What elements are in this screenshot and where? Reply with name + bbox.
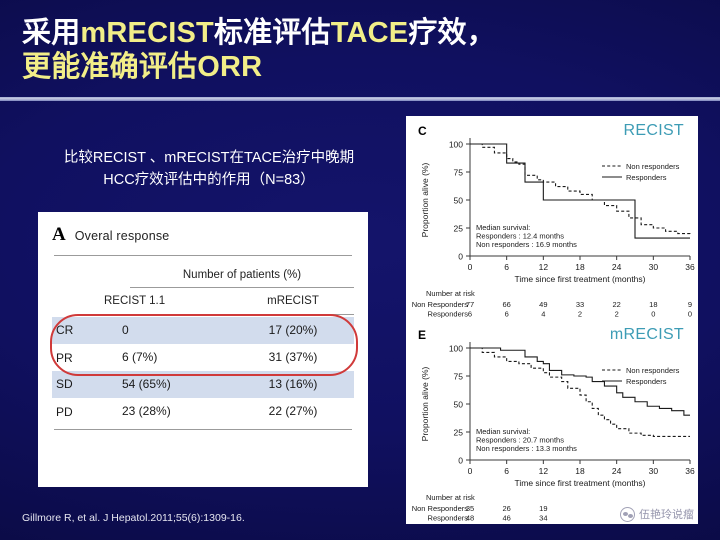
svg-text:18: 18 xyxy=(649,300,657,309)
row-value-recist: 54 (65%) xyxy=(104,371,232,398)
svg-text:75: 75 xyxy=(454,372,464,382)
title-segment-cn-b: 标准评估 xyxy=(214,17,331,49)
row-value-mrecist: 31 (37%) xyxy=(232,344,354,371)
table-rule-columns xyxy=(52,314,354,315)
svg-text:6: 6 xyxy=(468,310,472,319)
svg-text:24: 24 xyxy=(612,466,622,476)
svg-text:9: 9 xyxy=(688,300,692,309)
panel-e-title: mRECIST xyxy=(610,326,684,344)
citation-text: Gillmore R, et al. J Hepatol.2011;55(6):… xyxy=(22,512,245,524)
panel-a-letter: A xyxy=(52,224,66,246)
svg-text:0: 0 xyxy=(468,466,473,476)
column-header-blank xyxy=(52,295,104,307)
svg-text:Responders: Responders xyxy=(626,377,667,386)
svg-text:36: 36 xyxy=(685,262,695,272)
svg-text:24: 24 xyxy=(612,262,622,272)
row-label: SD xyxy=(52,371,104,398)
watermark-label: 伍艳玲说瘤 xyxy=(639,506,694,522)
svg-text:Non responders: Non responders xyxy=(626,366,680,375)
svg-text:49: 49 xyxy=(539,300,547,309)
row-label: PD xyxy=(52,405,104,419)
svg-text:Proportion alive (%): Proportion alive (%) xyxy=(420,367,430,442)
study-caption: 比较RECIST 、mRECIST在TACE治疗中晚期 HCC疗效评估中的作用（… xyxy=(18,147,400,191)
km-plot-mrecist-svg: 0255075100061218243036Time since first t… xyxy=(406,320,698,524)
table-row: PD 23 (28%) 22 (27%) xyxy=(52,398,354,425)
svg-text:2: 2 xyxy=(578,310,582,319)
svg-text:Number at risk: Number at risk xyxy=(426,493,475,502)
column-header-mrecist: mRECIST xyxy=(232,295,354,307)
panel-e-letter: E xyxy=(418,328,426,342)
row-value-recist: 6 (7%) xyxy=(104,344,232,371)
row-label: PR xyxy=(52,351,104,365)
svg-text:0: 0 xyxy=(458,456,463,466)
table-span-header: Number of patients (%) xyxy=(130,256,354,287)
title-segment-cn-c: 疗效， xyxy=(408,17,496,49)
slide-title: 采用mRECIST标准评估TACE疗效， 更能准确评估ORR xyxy=(22,16,682,84)
slide-canvas: 采用mRECIST标准评估TACE疗效， 更能准确评估ORR 比较RECIST … xyxy=(0,0,720,540)
svg-text:0: 0 xyxy=(651,310,655,319)
svg-text:75: 75 xyxy=(454,168,464,178)
table-row: PR 6 (7%) 31 (37%) xyxy=(52,344,354,371)
table-rule-bottom xyxy=(54,429,352,430)
svg-text:Responders: Responders xyxy=(428,514,469,523)
svg-text:46: 46 xyxy=(502,514,510,523)
svg-text:18: 18 xyxy=(575,262,585,272)
caption-line-2: HCC疗效评估中的作用（N=83） xyxy=(18,169,400,191)
svg-text:66: 66 xyxy=(502,300,510,309)
row-value-mrecist: 13 (16%) xyxy=(232,371,354,398)
table-row: SD 54 (65%) 13 (16%) xyxy=(52,371,354,398)
row-value-mrecist: 22 (27%) xyxy=(232,398,354,425)
svg-text:Non Responders: Non Responders xyxy=(412,300,469,309)
row-value-recist: 23 (28%) xyxy=(104,398,232,425)
svg-text:50: 50 xyxy=(454,196,464,206)
table-body: CR 0 17 (20%) PR 6 (7%) 31 (37%) SD 54 (… xyxy=(52,317,354,430)
svg-text:6: 6 xyxy=(504,466,509,476)
svg-text:Non responders : 16.9 months: Non responders : 16.9 months xyxy=(476,240,577,249)
row-value-mrecist: 17 (20%) xyxy=(232,317,354,344)
svg-text:Proportion alive (%): Proportion alive (%) xyxy=(420,163,430,238)
panel-a-response-table: A Overal response Number of patients (%)… xyxy=(38,212,368,487)
svg-text:Non Responders: Non Responders xyxy=(412,504,469,513)
svg-text:33: 33 xyxy=(576,300,584,309)
svg-text:Responders: Responders xyxy=(626,173,667,182)
figure-panel: C RECIST 0255075100061218243036Time sinc… xyxy=(406,116,698,524)
svg-text:25: 25 xyxy=(454,428,464,438)
title-segment-mrecist: mRECIST xyxy=(80,17,214,49)
svg-text:18: 18 xyxy=(575,466,585,476)
svg-text:4: 4 xyxy=(541,310,545,319)
svg-text:Non responders : 13.3 months: Non responders : 13.3 months xyxy=(476,444,577,453)
svg-text:12: 12 xyxy=(539,466,549,476)
wechat-icon xyxy=(620,507,635,522)
svg-text:36: 36 xyxy=(685,466,695,476)
svg-text:77: 77 xyxy=(466,300,474,309)
svg-text:30: 30 xyxy=(649,262,659,272)
table-row: CR 0 17 (20%) xyxy=(52,317,354,344)
title-divider xyxy=(0,97,720,101)
km-plot-recist-svg: 0255075100061218243036Time since first t… xyxy=(406,116,698,320)
km-chart-recist: C RECIST 0255075100061218243036Time sinc… xyxy=(406,116,698,320)
panel-a-header: A Overal response xyxy=(52,224,354,255)
svg-text:Non responders: Non responders xyxy=(626,162,680,171)
svg-text:34: 34 xyxy=(539,514,547,523)
svg-text:6: 6 xyxy=(504,262,509,272)
svg-text:35: 35 xyxy=(466,504,474,513)
title-segment-tace: TACE xyxy=(331,17,409,49)
panel-c-title: RECIST xyxy=(624,122,684,140)
svg-text:48: 48 xyxy=(466,514,474,523)
svg-text:100: 100 xyxy=(449,140,463,150)
panel-c-letter: C xyxy=(418,124,427,138)
svg-text:6: 6 xyxy=(505,310,509,319)
title-segment-cn-a: 采用 xyxy=(22,17,80,49)
svg-text:30: 30 xyxy=(649,466,659,476)
svg-text:26: 26 xyxy=(502,504,510,513)
svg-text:0: 0 xyxy=(468,262,473,272)
svg-text:Time since first treatment (mo: Time since first treatment (months) xyxy=(515,478,646,488)
svg-text:25: 25 xyxy=(454,224,464,234)
svg-text:Number at risk: Number at risk xyxy=(426,289,475,298)
title-line-1: 采用mRECIST标准评估TACE疗效， xyxy=(22,16,682,50)
svg-text:12: 12 xyxy=(539,262,549,272)
caption-line-1: 比较RECIST 、mRECIST在TACE治疗中晚期 xyxy=(18,147,400,169)
svg-text:0: 0 xyxy=(458,252,463,262)
title-line-2: 更能准确评估ORR xyxy=(22,50,682,84)
table-column-headers: RECIST 1.1 mRECIST xyxy=(52,288,354,314)
km-chart-mrecist: E mRECIST 0255075100061218243036Time sin… xyxy=(406,320,698,524)
svg-text:22: 22 xyxy=(612,300,620,309)
column-header-recist: RECIST 1.1 xyxy=(104,295,232,307)
row-value-recist: 0 xyxy=(104,317,232,344)
row-label: CR xyxy=(52,317,104,344)
svg-text:19: 19 xyxy=(539,504,547,513)
svg-text:50: 50 xyxy=(454,400,464,410)
svg-text:Time since first treatment (mo: Time since first treatment (months) xyxy=(515,274,646,284)
watermark: 伍艳玲说瘤 xyxy=(620,506,694,522)
svg-text:0: 0 xyxy=(688,310,692,319)
svg-text:Responders: Responders xyxy=(428,310,469,319)
svg-text:2: 2 xyxy=(615,310,619,319)
svg-text:100: 100 xyxy=(449,344,463,354)
panel-a-title: Overal response xyxy=(75,229,170,243)
